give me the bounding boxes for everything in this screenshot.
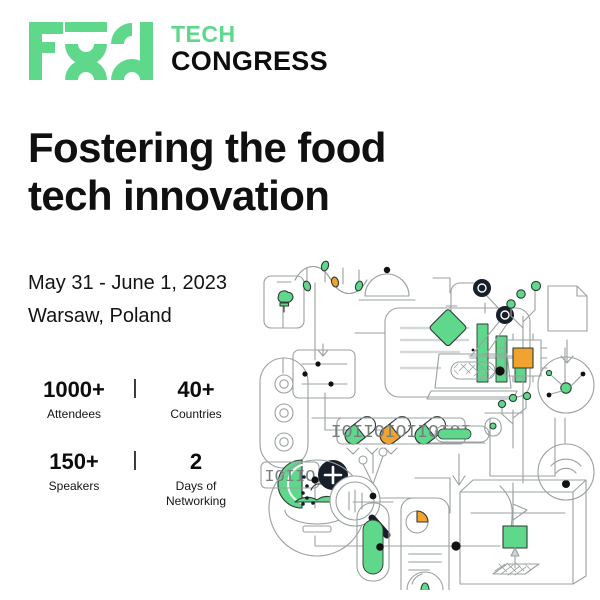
logo-wordmark: TECH CONGRESS bbox=[171, 22, 328, 76]
headline-line-2: tech innovation bbox=[28, 172, 498, 220]
stat-label: Countries bbox=[150, 407, 242, 423]
tablet-chart-icon bbox=[401, 498, 449, 590]
stat-value: 1000+ bbox=[28, 376, 120, 404]
stat-days-networking: 2 Days of Networking bbox=[150, 448, 242, 510]
robot-arm-icon bbox=[429, 279, 523, 356]
3d-food-printer-icon bbox=[451, 454, 586, 584]
network-node-icon bbox=[538, 357, 594, 413]
illustration-svg: IOIIOIOIIOIOI IOIIO bbox=[255, 258, 600, 590]
smartphone-broccoli-icon bbox=[264, 276, 304, 328]
stat-speakers: 150+ Speakers bbox=[28, 448, 120, 494]
stat-label: Days of Networking bbox=[150, 479, 242, 510]
sensor-stack-icon bbox=[260, 358, 308, 468]
stat-separator: | bbox=[120, 376, 150, 401]
stat-value: 2 bbox=[150, 448, 242, 476]
brand-logo: TECH CONGRESS bbox=[29, 22, 328, 80]
data-node-card-icon bbox=[293, 344, 355, 398]
stat-separator: | bbox=[120, 448, 150, 473]
food-wordmark-icon bbox=[29, 22, 162, 80]
dna-helix-icon bbox=[295, 260, 367, 293]
event-location: Warsaw, Poland bbox=[28, 300, 227, 333]
stats-row: 150+ Speakers | 2 Days of Networking bbox=[28, 448, 243, 510]
logo-tech-text: TECH bbox=[171, 22, 328, 47]
poster-canvas: TECH CONGRESS Fostering the food tech in… bbox=[0, 0, 600, 600]
logo-congress-text: CONGRESS bbox=[171, 47, 328, 76]
recycle-leaf-icon bbox=[485, 392, 531, 448]
stat-label: Attendees bbox=[28, 407, 120, 423]
stat-value: 40+ bbox=[150, 376, 242, 404]
binary-short-text: IOIIO bbox=[264, 468, 315, 487]
document-icon bbox=[548, 286, 587, 363]
food-tech-network-illustration: IOIIOIOIIOIOI IOIIO bbox=[255, 258, 600, 588]
stat-countries: 40+ Countries bbox=[150, 376, 242, 422]
page-title: Fostering the food tech innovation bbox=[28, 124, 498, 220]
stat-label: Speakers bbox=[28, 479, 120, 495]
headline-line-1: Fostering the food bbox=[28, 124, 386, 171]
cloche-serving-dome-icon bbox=[359, 267, 415, 300]
event-dates: May 31 - June 1, 2023 bbox=[28, 267, 227, 300]
stats-row: 1000+ Attendees | 40+ Countries bbox=[28, 376, 243, 422]
event-meta: May 31 - June 1, 2023 Warsaw, Poland bbox=[28, 267, 227, 333]
stat-attendees: 1000+ Attendees bbox=[28, 376, 120, 422]
stat-value: 150+ bbox=[28, 448, 120, 476]
stats-block: 1000+ Attendees | 40+ Countries 150+ Spe… bbox=[28, 376, 243, 536]
